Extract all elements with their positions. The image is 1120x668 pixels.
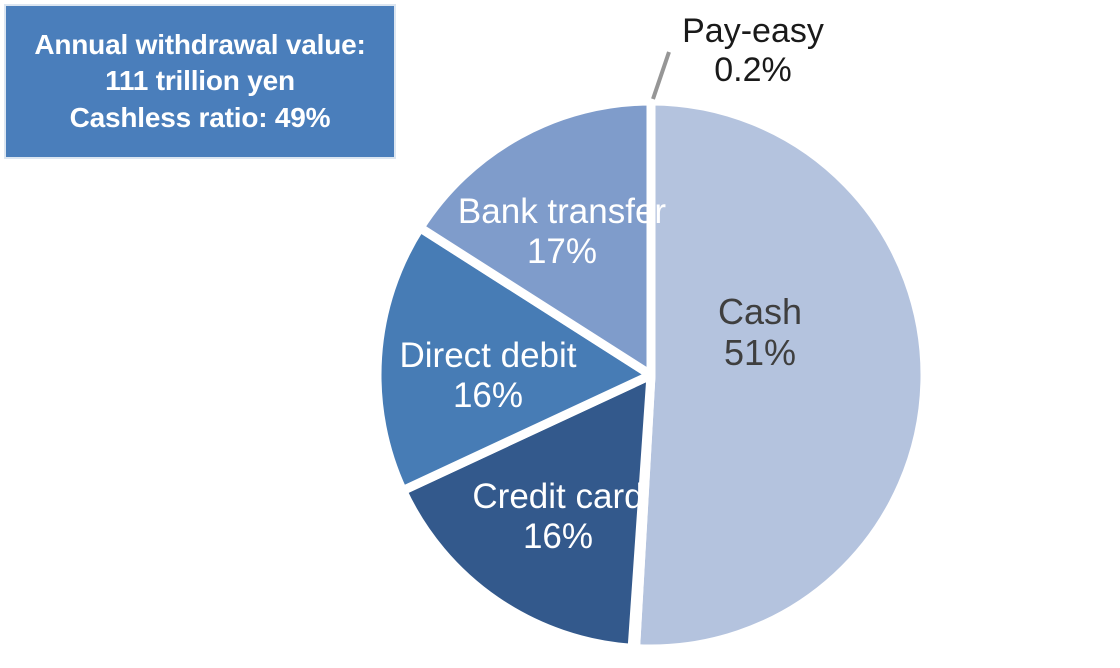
pie-slice-group: [377, 101, 925, 649]
chart-canvas: Annual withdrawal value: 111 trillion ye…: [0, 0, 1120, 668]
pie-chart: [0, 0, 1120, 668]
pay-easy-leader-line: [653, 52, 669, 99]
pie-slice-cash[interactable]: [636, 101, 925, 649]
